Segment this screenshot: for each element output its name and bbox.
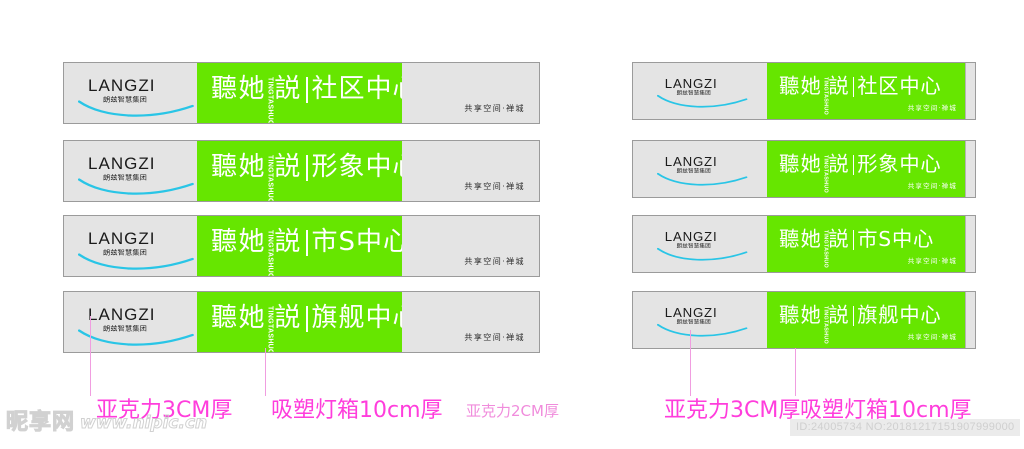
green-headline-panel: 聽她TINGTASHUO説形象中心: [197, 141, 402, 201]
headline-pinyin: TINGTASHUO: [822, 230, 828, 265]
tagline-panel: 共享空间·禅城: [402, 63, 539, 123]
end-strip: [965, 216, 976, 272]
logo-wordmark: LANGZI: [665, 77, 718, 90]
headline-divider: [853, 306, 854, 326]
logo-wordmark: LANGZI: [665, 230, 718, 243]
headline-suffix: 形象中心: [312, 154, 402, 180]
end-strip: [965, 141, 976, 197]
pinyin-ting: TING: [266, 306, 273, 324]
headline-pinyin: TINGTASHUO: [266, 155, 273, 201]
headline: 聽她TINGTASHUO説旗舰中心: [211, 305, 402, 352]
sign-panel-flagship-center[interactable]: LANGZI朗兹智慧集团聽她TINGTASHUO説旗舰中心共享空间·禅城: [63, 291, 540, 353]
pinyin-ting: TING: [822, 306, 828, 320]
leader-line-acrylic-3cm-right: [690, 330, 691, 396]
headline: 聽她TINGTASHUO説社区中心: [211, 76, 402, 123]
headline-char-shuo: 説: [828, 76, 849, 96]
headline-char-ting: 聽: [779, 305, 800, 325]
tagline: 共享空间·禅城: [464, 105, 525, 113]
headline-suffix: 市S中心: [312, 229, 402, 255]
brand-logo: LANGZI朗兹智慧集团: [657, 155, 749, 186]
watermark-site-name: 昵享网: [6, 412, 75, 434]
brand-logo: LANGZI朗兹智慧集团: [657, 306, 749, 337]
headline-char-ting: 聽: [779, 229, 800, 249]
leader-line-lightbox-left: [265, 348, 266, 396]
brand-logo: LANGZI朗兹智慧集团: [657, 230, 749, 261]
headline-char-ting: 聽: [211, 154, 238, 180]
tagline: 共享空间·禅城: [464, 334, 525, 342]
headline-char-shuo: 説: [274, 154, 301, 180]
annotation-acrylic-2cm-left: 亚克力2CM厚: [466, 404, 559, 419]
headline-suffix: 旗舰中心: [857, 305, 941, 325]
pinyin-tashuo: TASHUO: [822, 91, 828, 115]
cyan-swoosh-icon: [657, 171, 749, 189]
headline-char-shuo: 説: [828, 154, 849, 174]
watermark-site-url: www.nipic.cn: [80, 415, 207, 432]
sign-panel-flagship-center[interactable]: LANGZI朗兹智慧集团聽她TINGTASHUO説旗舰中心共享空间·禅城: [632, 291, 976, 349]
brand-logo: LANGZI朗兹智慧集团: [78, 77, 196, 117]
green-headline-panel: 聽她TINGTASHUO説市S中心: [197, 216, 402, 276]
logo-wordmark: LANGZI: [665, 306, 718, 319]
tagline: 共享空间·禅城: [908, 105, 957, 112]
logo-panel: LANGZI朗兹智慧集团: [633, 216, 767, 272]
sign-panel-city-s-center[interactable]: LANGZI朗兹智慧集团聽她TINGTASHUO説市S中心共享空间·禅城: [63, 215, 540, 277]
headline-char-shuo: 説: [274, 76, 301, 102]
logo-wordmark: LANGZI: [88, 230, 156, 247]
logo-wordmark: LANGZI: [88, 77, 156, 94]
logo-wordmark: LANGZI: [88, 306, 156, 323]
logo-panel: LANGZI朗兹智慧集团: [633, 292, 767, 348]
tagline-panel: 共享空间·禅城: [402, 141, 539, 201]
pinyin-tashuo: TASHUO: [266, 173, 273, 201]
headline-suffix: 社区中心: [312, 76, 402, 102]
cyan-swoosh-icon: [657, 322, 749, 340]
headline-pinyin: TINGTASHUO: [266, 230, 273, 276]
tagline: 共享空间·禅城: [464, 183, 525, 191]
pinyin-ting: TING: [266, 230, 273, 248]
headline-suffix: 市S中心: [857, 229, 934, 249]
logo-panel: LANGZI朗兹智慧集团: [64, 141, 197, 201]
logo-wordmark: LANGZI: [665, 155, 718, 168]
headline-pinyin: TINGTASHUO: [822, 155, 828, 190]
headline-char-ting: 聽: [211, 229, 238, 255]
headline-pinyin: TINGTASHUO: [266, 306, 273, 352]
sign-panel-community-center[interactable]: LANGZI朗兹智慧集团聽她TINGTASHUO説社区中心共享空间·禅城: [632, 62, 976, 120]
green-headline-panel: 聽她TINGTASHUO説社区中心共享空间·禅城: [767, 63, 965, 119]
headline-char-ta: 她: [800, 154, 821, 174]
pinyin-ting: TING: [266, 77, 273, 95]
brand-logo: LANGZI朗兹智慧集团: [657, 77, 749, 108]
cyan-swoosh-icon: [657, 246, 749, 264]
headline-suffix: 社区中心: [857, 76, 941, 96]
headline-char-ting: 聽: [779, 154, 800, 174]
watermark-nipic: 昵享网 www.nipic.cn: [6, 412, 207, 434]
pinyin-ting: TING: [822, 230, 828, 244]
brand-logo: LANGZI朗兹智慧集团: [78, 230, 196, 270]
headline-pinyin: TINGTASHUO: [266, 77, 273, 123]
headline-suffix: 形象中心: [857, 154, 941, 174]
headline: 聽她TINGTASHUO説形象中心: [211, 154, 402, 201]
logo-panel: LANGZI朗兹智慧集团: [633, 63, 767, 119]
pinyin-tashuo: TASHUO: [822, 169, 828, 193]
tagline-panel: 共享空间·禅城: [402, 292, 539, 352]
cyan-swoosh-icon: [78, 176, 196, 199]
headline-char-ting: 聽: [211, 305, 238, 331]
brand-logo: LANGZI朗兹智慧集团: [78, 155, 196, 195]
cyan-swoosh-icon: [78, 251, 196, 274]
green-headline-panel: 聽她TINGTASHUO説旗舰中心共享空间·禅城: [767, 292, 965, 348]
headline-char-shuo: 説: [828, 229, 849, 249]
headline-divider: [306, 77, 308, 102]
headline-char-shuo: 説: [828, 305, 849, 325]
headline-divider: [853, 230, 854, 250]
tagline-panel: 共享空间·禅城: [402, 216, 539, 276]
end-strip: [965, 292, 976, 348]
sign-panel-community-center[interactable]: LANGZI朗兹智慧集团聽她TINGTASHUO説社区中心共享空间·禅城: [63, 62, 540, 124]
headline-char-ta: 她: [239, 229, 266, 255]
logo-panel: LANGZI朗兹智慧集团: [64, 63, 197, 123]
headline-char-ta: 她: [239, 305, 266, 331]
pinyin-ting: TING: [266, 155, 273, 173]
logo-panel: LANGZI朗兹智慧集团: [64, 292, 197, 352]
headline-char-ting: 聽: [779, 76, 800, 96]
cyan-swoosh-icon: [657, 93, 749, 111]
headline-divider: [853, 77, 854, 97]
watermark-id: ID:24005734 NO:20181217151907999000: [790, 419, 1020, 436]
pinyin-tashuo: TASHUO: [822, 244, 828, 268]
headline-char-ta: 她: [239, 76, 266, 102]
headline-char-ting: 聽: [211, 76, 238, 102]
brand-logo: LANGZI朗兹智慧集团: [78, 306, 196, 346]
headline-char-ta: 她: [800, 305, 821, 325]
pinyin-tashuo: TASHUO: [266, 95, 273, 123]
annotation-acrylic-3cm-right: 亚克力3CM厚: [664, 400, 800, 422]
sign-panel-city-s-center[interactable]: LANGZI朗兹智慧集团聽她TINGTASHUO説市S中心共享空间·禅城: [632, 215, 976, 273]
headline-char-ta: 她: [800, 76, 821, 96]
cyan-swoosh-icon: [78, 98, 196, 121]
headline-char-ta: 她: [800, 229, 821, 249]
green-headline-panel: 聽她TINGTASHUO説市S中心共享空间·禅城: [767, 216, 965, 272]
headline-divider: [853, 155, 854, 175]
tagline: 共享空间·禅城: [464, 258, 525, 266]
tagline: 共享空间·禅城: [908, 258, 957, 265]
cyan-swoosh-icon: [78, 327, 196, 350]
pinyin-tashuo: TASHUO: [266, 324, 273, 352]
end-strip: [965, 63, 976, 119]
logo-wordmark: LANGZI: [88, 155, 156, 172]
headline-pinyin: TINGTASHUO: [822, 77, 828, 112]
headline-divider: [306, 155, 308, 180]
sign-panel-image-center[interactable]: LANGZI朗兹智慧集团聽她TINGTASHUO説形象中心共享空间·禅城: [63, 140, 540, 202]
leader-line-lightbox-right: [795, 348, 796, 396]
headline-divider: [306, 230, 308, 255]
green-headline-panel: 聽她TINGTASHUO説社区中心: [197, 63, 402, 123]
headline: 聽她TINGTASHUO説市S中心: [211, 229, 402, 276]
pinyin-ting: TING: [822, 77, 828, 91]
headline-char-ta: 她: [239, 154, 266, 180]
headline-char-shuo: 説: [274, 229, 301, 255]
tagline: 共享空间·禅城: [908, 334, 957, 341]
sign-panel-image-center[interactable]: LANGZI朗兹智慧集团聽她TINGTASHUO説形象中心共享空间·禅城: [632, 140, 976, 198]
green-headline-panel: 聽她TINGTASHUO説形象中心共享空间·禅城: [767, 141, 965, 197]
pinyin-ting: TING: [822, 155, 828, 169]
green-headline-panel: 聽她TINGTASHUO説旗舰中心: [197, 292, 402, 352]
logo-panel: LANGZI朗兹智慧集团: [633, 141, 767, 197]
headline-pinyin: TINGTASHUO: [822, 306, 828, 341]
headline-suffix: 旗舰中心: [312, 305, 402, 331]
annotation-lightbox-left: 吸塑灯箱10cm厚: [271, 400, 443, 422]
headline-divider: [306, 306, 308, 331]
pinyin-tashuo: TASHUO: [266, 248, 273, 276]
logo-panel: LANGZI朗兹智慧集团: [64, 216, 197, 276]
leader-line-acrylic-3cm-left: [90, 316, 91, 396]
tagline: 共享空间·禅城: [908, 183, 957, 190]
pinyin-tashuo: TASHUO: [822, 320, 828, 344]
headline-char-shuo: 説: [274, 305, 301, 331]
